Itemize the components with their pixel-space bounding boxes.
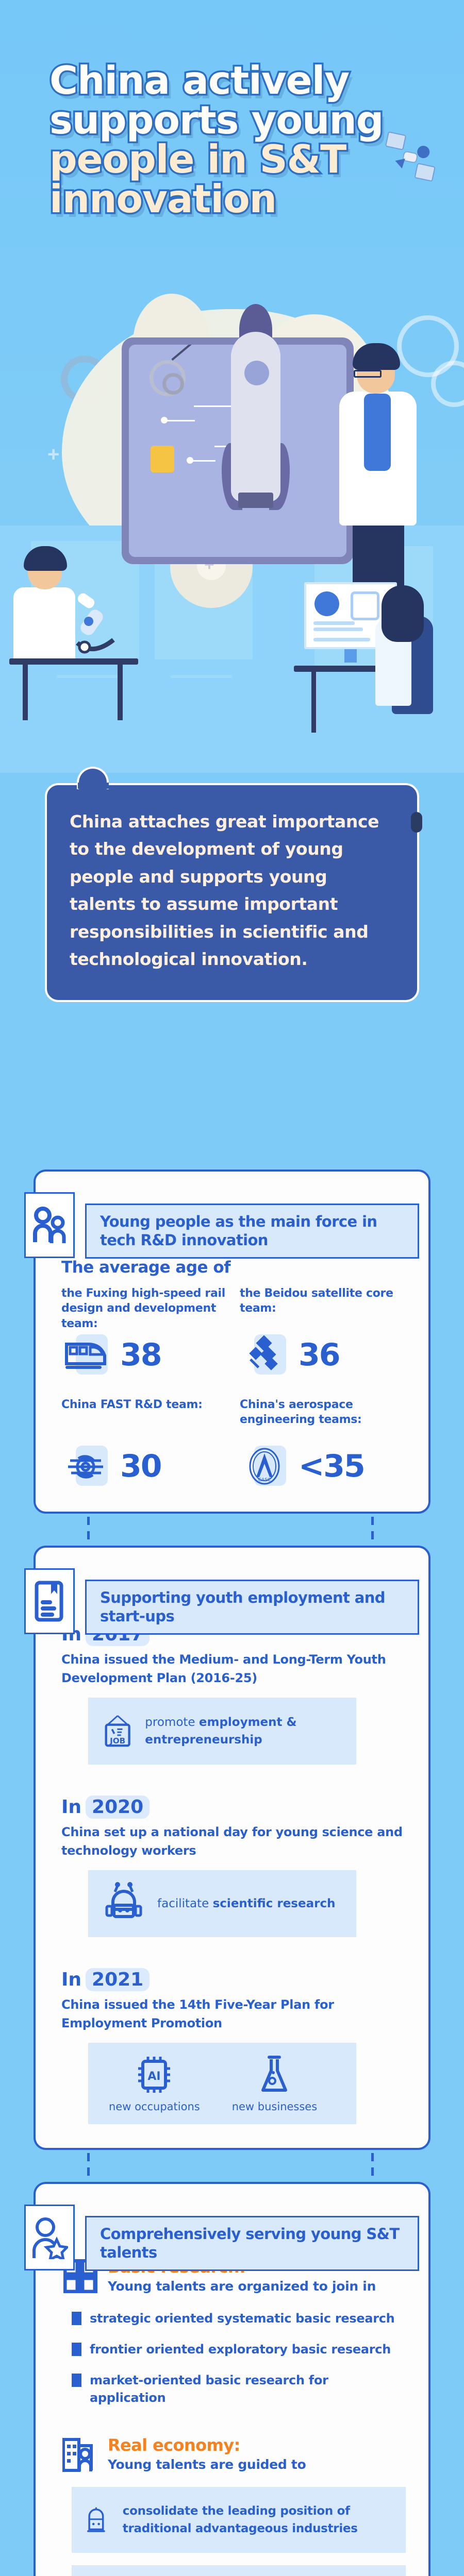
stat-label: the Beidou satellite core team: bbox=[240, 1286, 406, 1333]
bullet-text: market-oriented basic research for appli… bbox=[90, 2371, 406, 2406]
timeline-text-2020: China set up a national day for young sc… bbox=[61, 1823, 406, 1860]
chip-icon bbox=[351, 591, 379, 620]
casc-logo-icon: CASC bbox=[240, 1445, 289, 1488]
stat-value: <35 bbox=[299, 1448, 364, 1484]
two-people-icon bbox=[24, 1192, 75, 1258]
chip-col-occupations: AI new occupations bbox=[109, 2054, 200, 2113]
year-prefix: In bbox=[61, 1797, 81, 1818]
sections-container: Young people as the main force in tech R… bbox=[0, 1170, 464, 2576]
beidou-satellite-icon bbox=[240, 1333, 289, 1377]
stat-item: the Fuxing high-speed rail design and de… bbox=[61, 1286, 227, 1377]
timeline-text-2017: China issued the Medium- and Long-Term Y… bbox=[61, 1650, 406, 1687]
card-title-serving-talents: Comprehensively serving young S&T talent… bbox=[85, 2216, 419, 2271]
chip-light-text: promote bbox=[145, 1716, 199, 1729]
pie-chart-icon bbox=[314, 591, 339, 616]
plus-decoration: + bbox=[47, 443, 59, 466]
card-title-youth-employment: Supporting youth employment and start-up… bbox=[85, 1580, 419, 1635]
card-title-text: Comprehensively serving young S&T talent… bbox=[100, 2225, 412, 2262]
intro-section: China attaches great importance to the d… bbox=[0, 783, 464, 1002]
title-line-4: innovation bbox=[49, 179, 390, 219]
bullet-square bbox=[72, 2374, 81, 2387]
bullet-square bbox=[72, 2343, 81, 2356]
flask-icon bbox=[257, 2054, 292, 2095]
title-line-3: people in S&T bbox=[49, 140, 390, 179]
person-star-icon bbox=[24, 2205, 75, 2270]
job-sign-icon: JOB bbox=[102, 1708, 134, 1754]
card-youth-employment: Supporting youth employment and start-up… bbox=[34, 1546, 430, 2150]
guide-text: consolidate the leading position of trad… bbox=[123, 2502, 392, 2537]
card-main-force: Young people as the main force in tech R… bbox=[34, 1170, 430, 1514]
chip-bold-text: scientific research bbox=[213, 1897, 336, 1910]
topic-real-economy: Real economy: Young talents are guided t… bbox=[61, 2435, 406, 2473]
list-item: integrate and optimize science and educa… bbox=[72, 2565, 406, 2576]
list-item: consolidate the leading position of trad… bbox=[72, 2487, 406, 2553]
topic-subtitle: Young talents are organized to join in bbox=[108, 2277, 376, 2295]
timeline-chip-2020: facilitate scientific research bbox=[88, 1870, 356, 1937]
timeline-chip-2021: AI new occupations new businesses bbox=[88, 2043, 356, 2124]
card-serving-talents: Comprehensively serving young S&T talent… bbox=[34, 2182, 430, 2576]
card-nub bbox=[411, 812, 422, 833]
rocket-icon bbox=[222, 304, 289, 536]
title-line-1: China actively bbox=[49, 61, 390, 100]
bullet-text: strategic oriented systematic basic rese… bbox=[90, 2310, 394, 2327]
year-value: 2020 bbox=[86, 1795, 150, 1819]
microscope-scientist-illustration bbox=[9, 546, 133, 701]
high-speed-train-icon bbox=[61, 1333, 111, 1377]
page-title: China actively supports young people in … bbox=[49, 61, 390, 218]
intro-card: China attaches great importance to the d… bbox=[45, 783, 419, 1002]
connector-2 bbox=[34, 2150, 430, 2182]
stat-item: China's aerospace engineering teams: CAS… bbox=[240, 1397, 406, 1488]
chip-caption: new occupations bbox=[109, 2100, 200, 2113]
svg-text:AI: AI bbox=[148, 2070, 161, 2083]
guide-list-real-economy: consolidate the leading position of trad… bbox=[72, 2487, 406, 2576]
chip-caption: new businesses bbox=[232, 2100, 317, 2113]
infographic-page: + + + bbox=[0, 0, 464, 2576]
target-icon bbox=[150, 360, 186, 396]
topic-title: Real economy: bbox=[108, 2436, 306, 2454]
title-line-2: supports young bbox=[49, 100, 390, 140]
list-item: frontier oriented exploratory basic rese… bbox=[72, 2341, 406, 2358]
timeline-year-2020: In2020 bbox=[61, 1797, 406, 1818]
hero-banner: + + + bbox=[0, 0, 464, 773]
chip-text-2017: promote employment & entrepreneurship bbox=[145, 1714, 343, 1749]
timeline-year-2021: In2021 bbox=[61, 1969, 406, 1990]
bullet-text: frontier oriented exploratory basic rese… bbox=[90, 2341, 391, 2358]
stat-value: 38 bbox=[120, 1337, 161, 1373]
chip-light-text: facilitate bbox=[157, 1897, 213, 1910]
year-value: 2021 bbox=[86, 1968, 150, 1991]
bullet-square bbox=[72, 2312, 81, 2325]
timeline-chip-2017: JOB promote employment & entrepreneurshi… bbox=[88, 1698, 356, 1765]
bullet-list-basic-research: strategic oriented systematic basic rese… bbox=[72, 2310, 406, 2406]
microscope-icon bbox=[67, 591, 124, 664]
svg-text:JOB: JOB bbox=[109, 1736, 125, 1745]
list-item: strategic oriented systematic basic rese… bbox=[72, 2310, 406, 2327]
stat-label: China's aerospace engineering teams: bbox=[240, 1397, 406, 1445]
building-person-icon bbox=[61, 2435, 100, 2473]
stat-label: the Fuxing high-speed rail design and de… bbox=[61, 1286, 227, 1333]
svg-text:CASC: CASC bbox=[258, 1478, 271, 1483]
fast-telescope-icon bbox=[61, 1445, 111, 1488]
stat-item: the Beidou satellite core team: bbox=[240, 1286, 406, 1377]
stat-value: 36 bbox=[299, 1337, 340, 1373]
arrow-icon bbox=[171, 345, 191, 361]
badge-icon bbox=[151, 446, 174, 472]
topic-subtitle: Young talents are guided to bbox=[108, 2455, 306, 2473]
card-title-text: Young people as the main force in tech R… bbox=[100, 1212, 412, 1250]
chip-col-businesses: new businesses bbox=[232, 2054, 317, 2113]
year-prefix: In bbox=[61, 1969, 81, 1990]
stat-item: China FAST R&D team: bbox=[61, 1397, 227, 1488]
intro-text: China attaches great importance to the d… bbox=[70, 808, 394, 973]
timeline-text-2021: China issued the 14th Five-Year Plan for… bbox=[61, 1995, 406, 2032]
stats-grid: the Fuxing high-speed rail design and de… bbox=[61, 1286, 406, 1488]
card-title-text: Supporting youth employment and start-up… bbox=[100, 1588, 412, 1626]
robot-icon bbox=[102, 1880, 146, 1927]
ai-chip-icon: AI bbox=[135, 2054, 174, 2095]
chip-text-2020: facilitate scientific research bbox=[157, 1895, 335, 1913]
average-age-heading: The average age of bbox=[61, 1258, 406, 1277]
connector-1 bbox=[34, 1514, 430, 1546]
card-title-main-force: Young people as the main force in tech R… bbox=[85, 1204, 419, 1259]
bookmark-document-icon bbox=[24, 1568, 75, 1634]
list-item: market-oriented basic research for appli… bbox=[72, 2371, 406, 2406]
computer-scientist-illustration bbox=[304, 582, 454, 752]
stat-value: 30 bbox=[120, 1448, 161, 1484]
train-front-icon bbox=[85, 2498, 107, 2541]
stat-label: China FAST R&D team: bbox=[61, 1397, 227, 1445]
